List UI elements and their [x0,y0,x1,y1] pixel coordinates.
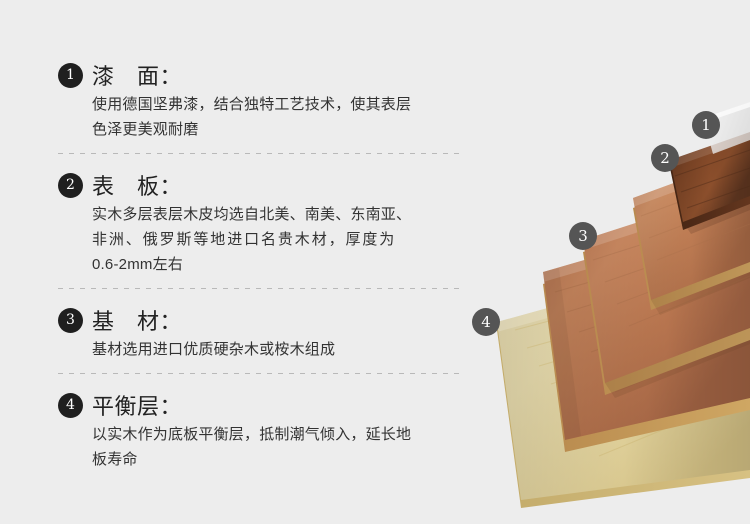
spec-body-1-line-1: 使用德国坚弗漆，结合独特工艺技术，使其表层 [92,92,462,117]
spec-item-4: 4 平衡层： 以实木作为底板平衡层，抵制潮气倾入，延长地 板寿命 [58,388,462,476]
spec-title-1: 漆 面： [92,59,182,91]
spec-title-3: 基 材： [92,304,182,336]
spec-badge-2: 2 [58,173,83,198]
illustration-badge-4: 4 [472,308,500,336]
spec-body-2-line-2: 非洲、俄罗斯等地进口名贵木材，厚度为 [92,227,462,252]
spec-item-1: 1 漆 面： 使用德国坚弗漆，结合独特工艺技术，使其表层 色泽更美观耐磨 [58,58,462,168]
illustration-badge-3: 3 [569,222,597,250]
spec-body-1: 使用德国坚弗漆，结合独特工艺技术，使其表层 色泽更美观耐磨 [92,92,462,142]
spec-head-1: 1 漆 面： [58,58,462,92]
spec-body-4: 以实木作为底板平衡层，抵制潮气倾入，延长地 板寿命 [92,422,462,472]
spec-body-3: 基材选用进口优质硬杂木或桉木组成 [92,337,462,362]
spec-title-4: 平衡层： [92,389,182,421]
product-spec-panel: 1 漆 面： 使用德国坚弗漆，结合独特工艺技术，使其表层 色泽更美观耐磨 2 表… [0,0,750,524]
spec-divider-2 [58,288,462,289]
spec-badge-4: 4 [58,393,83,418]
spec-body-3-line-1: 基材选用进口优质硬杂木或桉木组成 [92,337,462,362]
flooring-layers-graphic [455,0,750,524]
spec-body-1-line-2: 色泽更美观耐磨 [92,117,462,142]
spec-head-3: 3 基 材： [58,303,462,337]
spec-body-2-line-1: 实木多层表层木皮均选自北美、南美、东南亚、 [92,202,462,227]
spec-item-2: 2 表 板： 实木多层表层木皮均选自北美、南美、东南亚、 非洲、俄罗斯等地进口名… [58,168,462,303]
spec-head-2: 2 表 板： [58,168,462,202]
exploded-flooring-layers-diagram: 1 2 3 4 [455,0,750,524]
spec-head-4: 4 平衡层： [58,388,462,422]
spec-item-3: 3 基 材： 基材选用进口优质硬杂木或桉木组成 [58,303,462,388]
spec-body-2-line-3: 0.6-2mm左右 [92,252,462,277]
spec-divider-3 [58,373,462,374]
spec-title-2: 表 板： [92,169,182,201]
spec-badge-3: 3 [58,308,83,333]
spec-divider-1 [58,153,462,154]
illustration-badge-2: 2 [651,144,679,172]
spec-body-2: 实木多层表层木皮均选自北美、南美、东南亚、 非洲、俄罗斯等地进口名贵木材，厚度为… [92,202,462,277]
spec-list: 1 漆 面： 使用德国坚弗漆，结合独特工艺技术，使其表层 色泽更美观耐磨 2 表… [58,58,462,476]
illustration-badge-1: 1 [692,111,720,139]
spec-badge-1: 1 [58,63,83,88]
spec-body-4-line-2: 板寿命 [92,447,462,472]
spec-body-4-line-1: 以实木作为底板平衡层，抵制潮气倾入，延长地 [92,422,462,447]
